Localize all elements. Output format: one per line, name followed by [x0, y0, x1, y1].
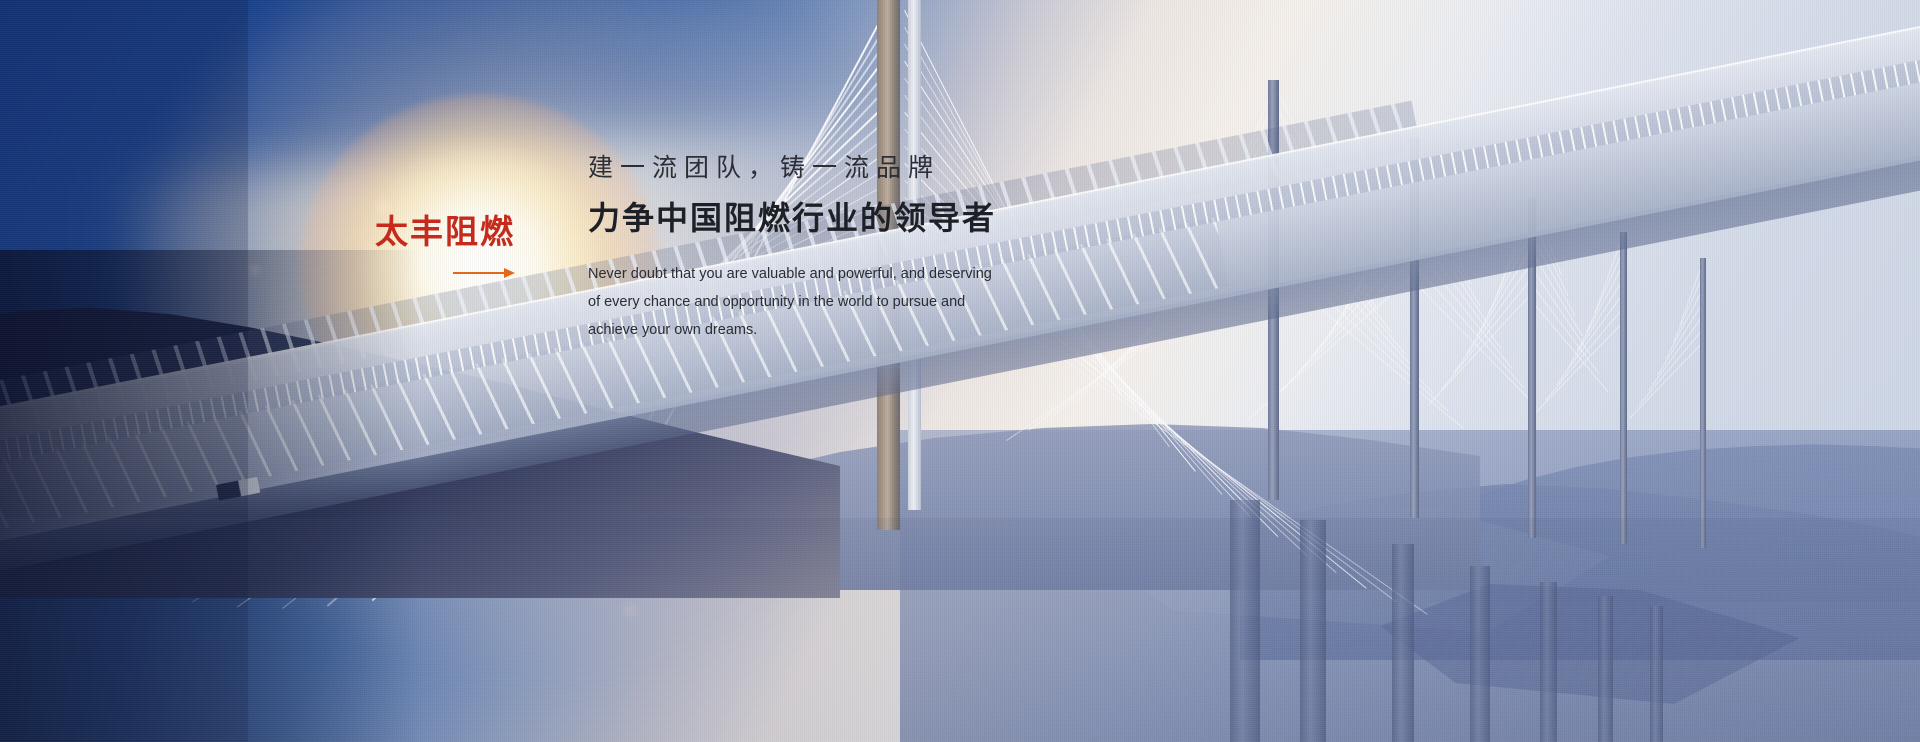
description-line: Never doubt that you are valuable and po…: [588, 260, 1058, 288]
description-paragraph: Never doubt that you are valuable and po…: [588, 260, 1058, 345]
banner-content: 太丰阻燃 建一流团队，铸一流品牌 力争中国阻燃行业的领导者 Never doub…: [0, 0, 1920, 742]
arrow-right-icon: [453, 268, 515, 278]
headline-title: 力争中国阻燃行业的领导者: [588, 199, 1108, 237]
arrow-shaft: [453, 272, 509, 274]
brand-logo[interactable]: 太丰阻燃: [375, 215, 535, 278]
headline-group: 建一流团队，铸一流品牌 力争中国阻燃行业的领导者 Never doubt tha…: [588, 152, 1108, 344]
headline-subtitle: 建一流团队，铸一流品牌: [588, 152, 1108, 183]
description-line: achieve your own dreams.: [588, 316, 1058, 344]
hero-banner: 太丰阻燃 建一流团队，铸一流品牌 力争中国阻燃行业的领导者 Never doub…: [0, 0, 1920, 742]
arrow-head: [504, 268, 515, 278]
description-line: of every chance and opportunity in the w…: [588, 288, 1058, 316]
brand-logo-text: 太丰阻燃: [375, 215, 535, 248]
